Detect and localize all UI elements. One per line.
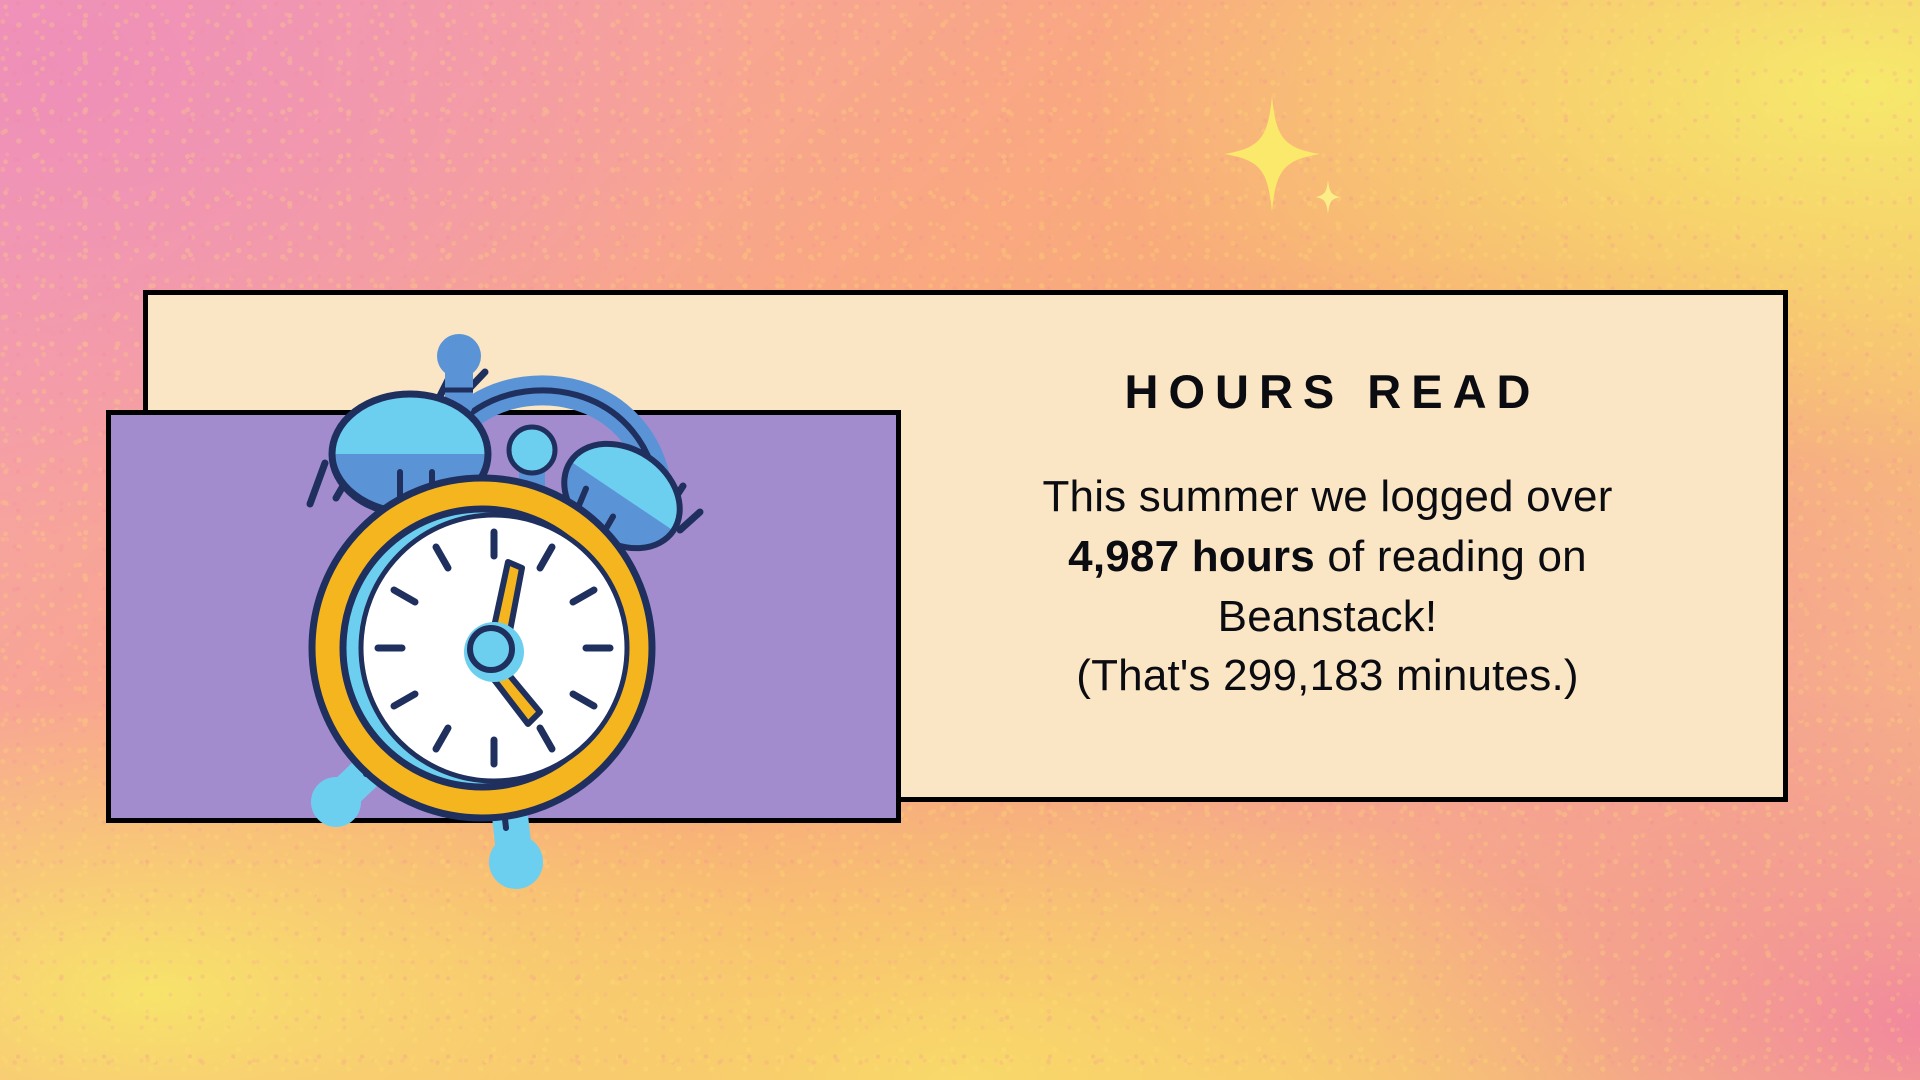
slide-canvas: HOURS READ This summer we logged over 4,… [0, 0, 1920, 1080]
body-copy: This summer we logged over 4,987 hours o… [905, 467, 1750, 706]
alarm-clock-icon [270, 300, 800, 890]
minutes-read-note: (That's 299,183 minutes.) [1076, 651, 1579, 700]
body-line-2-rest: of reading on [1315, 532, 1587, 581]
sparkle-icon [1224, 96, 1320, 212]
platform-name: Beanstack! [1218, 592, 1438, 641]
page-title: HOURS READ [905, 368, 1750, 415]
hours-read-value: 4,987 hours [1068, 532, 1315, 581]
text-block: HOURS READ This summer we logged over 4,… [905, 368, 1750, 706]
body-line-1: This summer we logged over [1042, 472, 1612, 521]
sparkle-icon [1315, 180, 1341, 214]
